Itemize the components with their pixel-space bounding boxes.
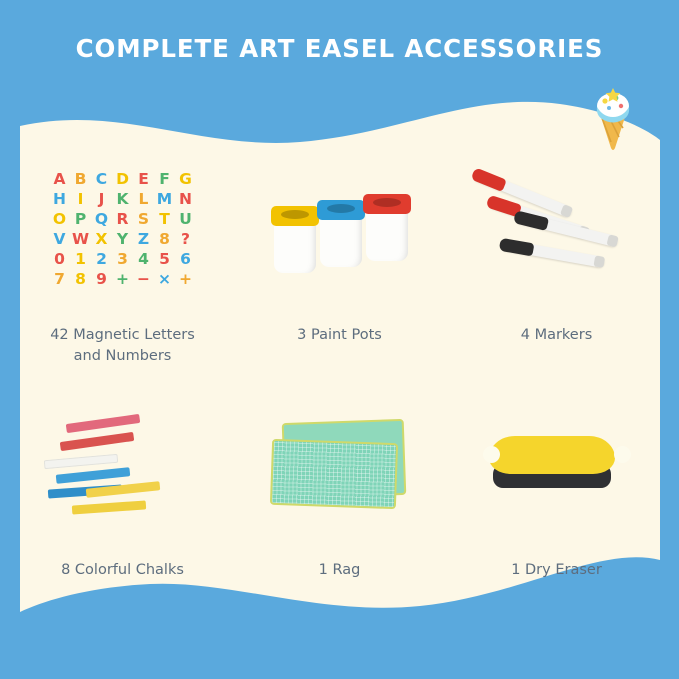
- chalks-group: [38, 413, 208, 523]
- plus-symbol-tile: +: [113, 270, 132, 289]
- pot-lid: [317, 200, 365, 220]
- item-dry-eraser: 1 Dry Eraser: [448, 375, 665, 610]
- caption-line-2: and Numbers: [23, 346, 223, 367]
- letter-tile: E: [134, 170, 153, 189]
- letter-tile: L: [134, 190, 153, 209]
- rag-caption: 1 Rag: [240, 560, 440, 581]
- paint-pots-caption: 3 Paint Pots: [240, 325, 440, 346]
- letter-tile: K: [113, 190, 132, 209]
- red-chalk: [59, 431, 134, 450]
- letter-tile: R: [113, 210, 132, 229]
- number-tile: 8: [71, 270, 90, 289]
- eraser-notch-left: [483, 446, 500, 463]
- dry-eraser-object: [487, 428, 627, 508]
- letter-tile: C: [92, 170, 111, 189]
- letter-tile: S: [134, 210, 153, 229]
- caption-line-1: 4 Markers: [457, 325, 657, 346]
- markers-group: [467, 178, 647, 288]
- letter-tile: I: [71, 190, 90, 209]
- black-marker-2: [500, 239, 604, 268]
- dry-eraser-caption: 1 Dry Eraser: [457, 560, 657, 581]
- eraser-top: [489, 436, 615, 474]
- letter-tile: N: [176, 190, 195, 209]
- letter-tile: P: [71, 210, 90, 229]
- letter-tile: X: [92, 230, 111, 249]
- chalks-caption: 8 Colorful Chalks: [23, 560, 223, 581]
- item-markers: 4 Markers: [448, 140, 665, 375]
- white-chalk: [43, 453, 118, 468]
- paint-pots-image: [231, 140, 448, 325]
- magnetic-letters-caption: 42 Magnetic Letters and Numbers: [23, 325, 223, 367]
- markers-caption: 4 Markers: [457, 325, 657, 346]
- letter-tile: G: [176, 170, 195, 189]
- caption-line-1: 42 Magnetic Letters: [23, 325, 223, 346]
- pot-lid: [363, 194, 411, 214]
- letter-tile: M: [155, 190, 174, 209]
- marker-cap: [470, 167, 506, 192]
- letter-tile: B: [71, 170, 90, 189]
- red-paint-pot: [366, 205, 408, 261]
- letter-tile: V: [50, 230, 69, 249]
- letter-tile: U: [176, 210, 195, 229]
- blue-chalk: [55, 467, 130, 484]
- letter-tile: Y: [113, 230, 132, 249]
- eraser-notch-right: [614, 446, 631, 463]
- letter-tile: D: [113, 170, 132, 189]
- rag-front-fold: [269, 439, 397, 509]
- alphabet-tiles: A B C D E F G H I J K L M N O P Q: [43, 170, 203, 289]
- number-tile: 9: [92, 270, 111, 289]
- markers-image: [448, 140, 665, 325]
- yellow-chalk: [85, 481, 160, 498]
- pot-hole: [281, 210, 309, 219]
- letter-tile: T: [155, 210, 174, 229]
- pot-lid: [271, 206, 319, 226]
- letter-tile: H: [50, 190, 69, 209]
- letter-tile: Q: [92, 210, 111, 229]
- marker-tail: [559, 204, 572, 218]
- caption-line-1: 3 Paint Pots: [240, 325, 440, 346]
- number-tile: 2: [92, 250, 111, 269]
- minus-symbol-tile: −: [134, 270, 153, 289]
- rag-cloth: [265, 415, 415, 520]
- yellow-paint-pot: [274, 217, 316, 273]
- dry-eraser-image: [448, 375, 665, 560]
- pot-hole: [327, 204, 355, 213]
- letter-tile: Z: [134, 230, 153, 249]
- marker-cap: [498, 237, 534, 256]
- number-tile: 6: [176, 250, 195, 269]
- pot-hole: [373, 198, 401, 207]
- caption-line-1: 8 Colorful Chalks: [23, 560, 223, 581]
- letter-tile: W: [71, 230, 90, 249]
- rag-image: [231, 375, 448, 560]
- number-tile: 4: [134, 250, 153, 269]
- magnetic-letters-image: A B C D E F G H I J K L M N O P Q: [14, 140, 231, 325]
- number-tile: 8: [155, 230, 174, 249]
- blue-paint-pot: [320, 211, 362, 267]
- caption-line-1: 1 Dry Eraser: [457, 560, 657, 581]
- number-tile: 3: [113, 250, 132, 269]
- symbol-tile: ?: [176, 230, 195, 249]
- multiply-symbol-tile: ×: [155, 270, 174, 289]
- letter-tile: F: [155, 170, 174, 189]
- item-chalks: 8 Colorful Chalks: [14, 375, 231, 610]
- number-tile: 5: [155, 250, 174, 269]
- letter-tile: O: [50, 210, 69, 229]
- product-feature-poster: COMPLETE ART EASEL ACCESSORIES A B C D E…: [0, 0, 679, 679]
- number-tile: 7: [50, 270, 69, 289]
- item-rag: 1 Rag: [231, 375, 448, 610]
- page-title: COMPLETE ART EASEL ACCESSORIES: [0, 34, 679, 63]
- letter-tile: A: [50, 170, 69, 189]
- caption-line-1: 1 Rag: [240, 560, 440, 581]
- number-tile: 0: [50, 250, 69, 269]
- paint-pots-group: [260, 193, 420, 273]
- marker-tail: [606, 234, 618, 247]
- accessories-grid: A B C D E F G H I J K L M N O P Q: [14, 140, 665, 610]
- yellow-chalk-2: [71, 500, 145, 514]
- chalks-image: [14, 375, 231, 560]
- plus-symbol-tile: +: [176, 270, 195, 289]
- pink-chalk: [65, 413, 140, 432]
- marker-tail: [593, 255, 605, 268]
- letter-tile: J: [92, 190, 111, 209]
- number-tile: 1: [71, 250, 90, 269]
- item-paint-pots: 3 Paint Pots: [231, 140, 448, 375]
- item-magnetic-letters: A B C D E F G H I J K L M N O P Q: [14, 140, 231, 375]
